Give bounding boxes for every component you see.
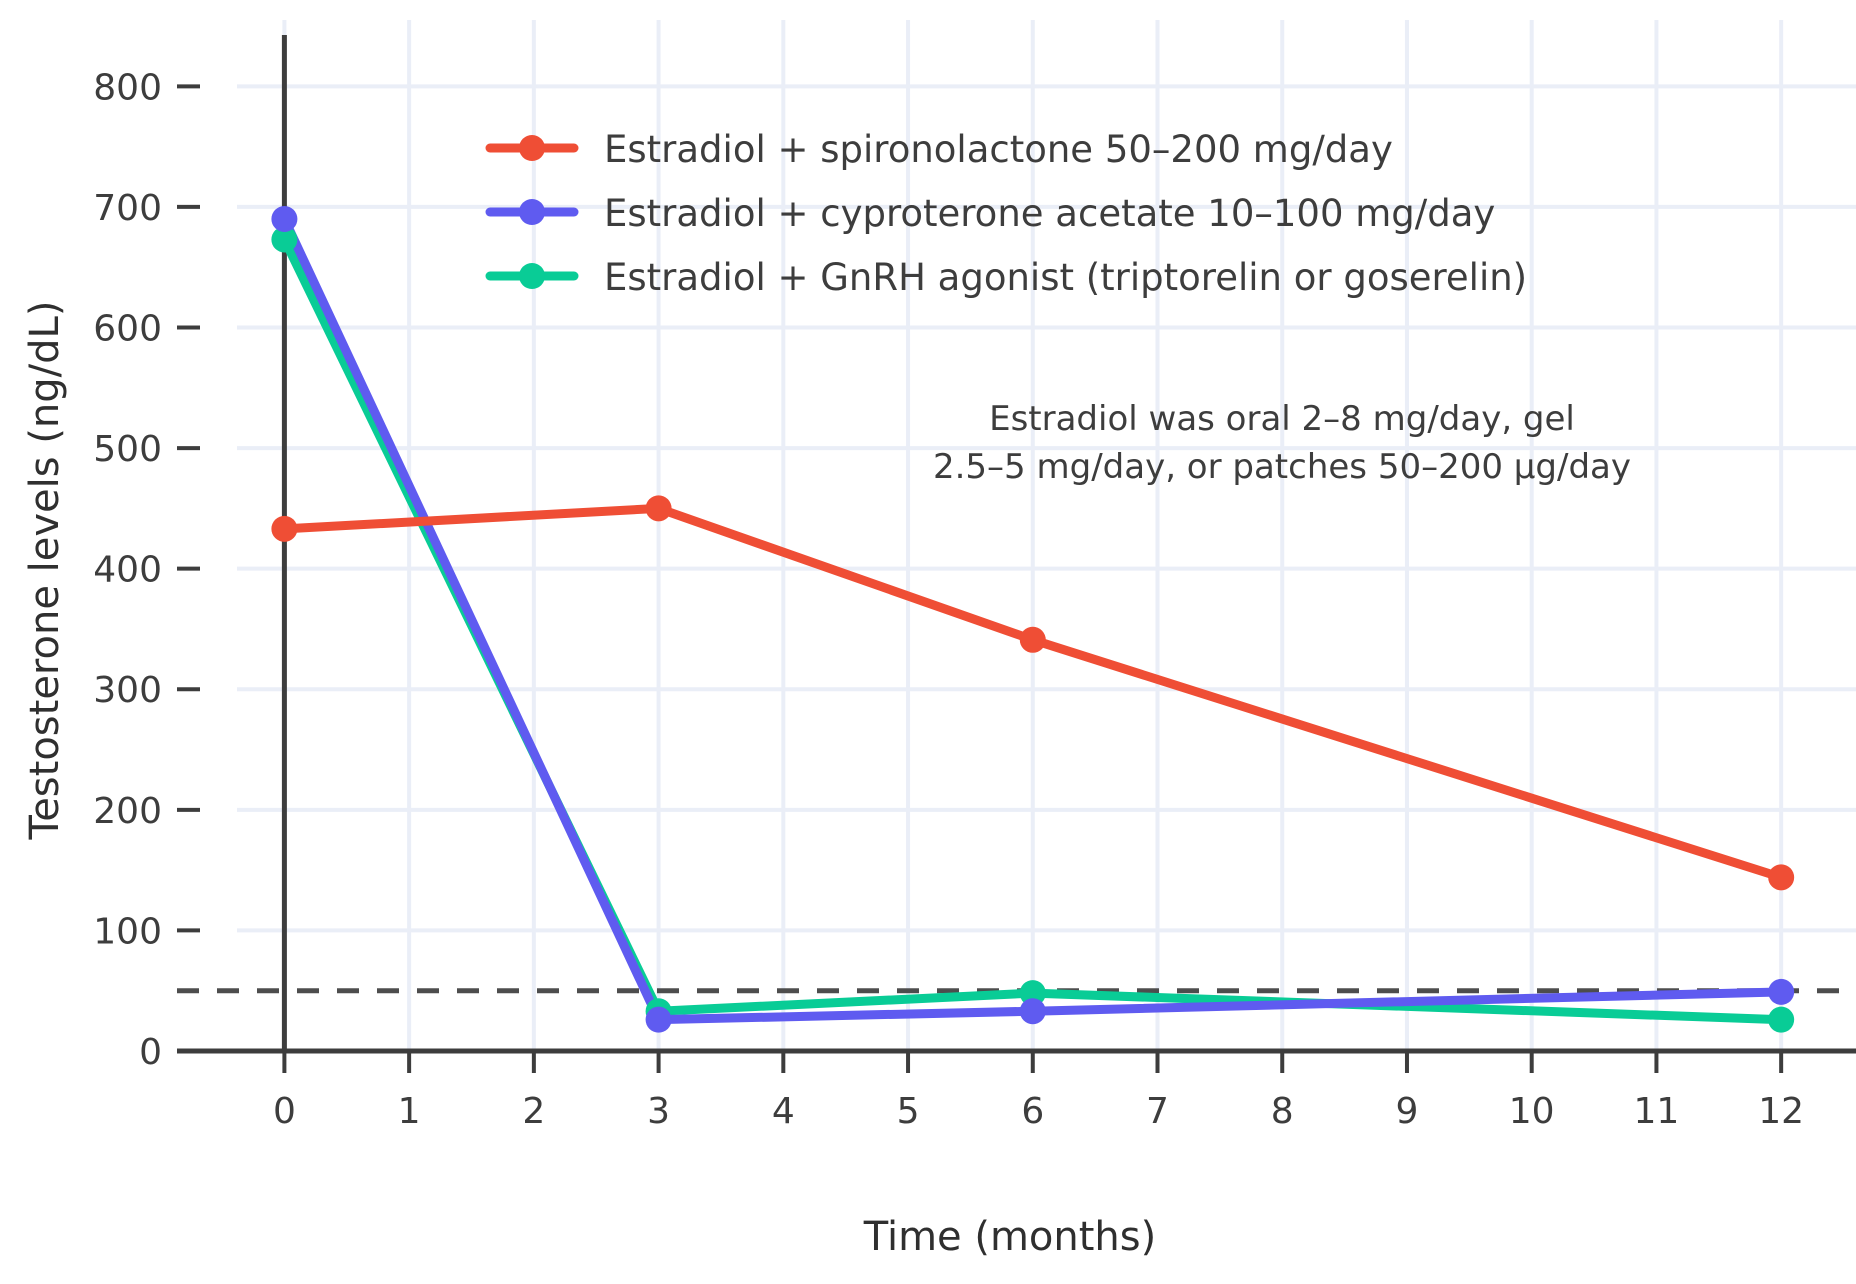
annotation-line-2: 2.5–5 mg/day, or patches 50–200 μg/day bbox=[933, 447, 1631, 487]
data-point-marker bbox=[271, 516, 297, 542]
chart-legend: Estradiol + spironolactone 50–200 mg/day… bbox=[490, 128, 1527, 299]
y-tick-labels: 0100200300400500600700800 bbox=[93, 67, 162, 1073]
y-tick-label: 500 bbox=[93, 429, 162, 470]
x-tick-label: 1 bbox=[398, 1091, 421, 1132]
x-tick-label: 0 bbox=[273, 1091, 296, 1132]
data-point-marker bbox=[1020, 627, 1046, 653]
x-tick-label: 4 bbox=[772, 1091, 795, 1132]
x-tick-label: 3 bbox=[647, 1091, 670, 1132]
data-point-marker bbox=[1768, 864, 1794, 890]
y-axis-title: Testosterone levels (ng/dL) bbox=[22, 301, 68, 841]
x-tick-label: 5 bbox=[897, 1091, 920, 1132]
legend-item-label: Estradiol + spironolactone 50–200 mg/day bbox=[604, 128, 1393, 171]
x-tick-label: 6 bbox=[1021, 1091, 1044, 1132]
legend-swatch-marker bbox=[519, 199, 545, 225]
legend-swatch-marker bbox=[519, 135, 545, 161]
x-axis-title: Time (months) bbox=[863, 1214, 1156, 1260]
data-point-marker bbox=[646, 1007, 672, 1033]
chart-figure: 0100200300400500600700800 01234567891011… bbox=[0, 0, 1856, 1284]
legend-item-label: Estradiol + cyproterone acetate 10–100 m… bbox=[604, 192, 1495, 235]
data-point-marker bbox=[271, 206, 297, 232]
y-tick-label: 600 bbox=[93, 308, 162, 349]
y-tick-label: 200 bbox=[93, 791, 162, 832]
testosterone-line-chart: 0100200300400500600700800 01234567891011… bbox=[0, 0, 1856, 1284]
data-point-marker bbox=[1020, 998, 1046, 1024]
data-point-marker bbox=[646, 495, 672, 521]
x-tick-label: 11 bbox=[1634, 1091, 1680, 1132]
y-tick-label: 700 bbox=[93, 188, 162, 229]
x-tick-label: 8 bbox=[1271, 1091, 1294, 1132]
x-tick-label: 7 bbox=[1146, 1091, 1169, 1132]
y-tick-label: 800 bbox=[93, 67, 162, 108]
x-tick-label: 10 bbox=[1509, 1091, 1555, 1132]
y-tick-label: 300 bbox=[93, 670, 162, 711]
legend-swatch-marker bbox=[519, 263, 545, 289]
y-tick-label: 0 bbox=[139, 1032, 162, 1073]
x-tick-label: 2 bbox=[522, 1091, 545, 1132]
data-point-marker bbox=[1768, 979, 1794, 1005]
annotation-line-1: Estradiol was oral 2–8 mg/day, gel bbox=[989, 399, 1575, 439]
y-tick-label: 400 bbox=[93, 550, 162, 591]
legend-item-label: Estradiol + GnRH agonist (triptorelin or… bbox=[604, 256, 1527, 299]
data-point-marker bbox=[1768, 1007, 1794, 1033]
y-tick-label: 100 bbox=[93, 911, 162, 952]
x-tick-label: 12 bbox=[1758, 1091, 1804, 1132]
x-tick-label: 9 bbox=[1396, 1091, 1419, 1132]
